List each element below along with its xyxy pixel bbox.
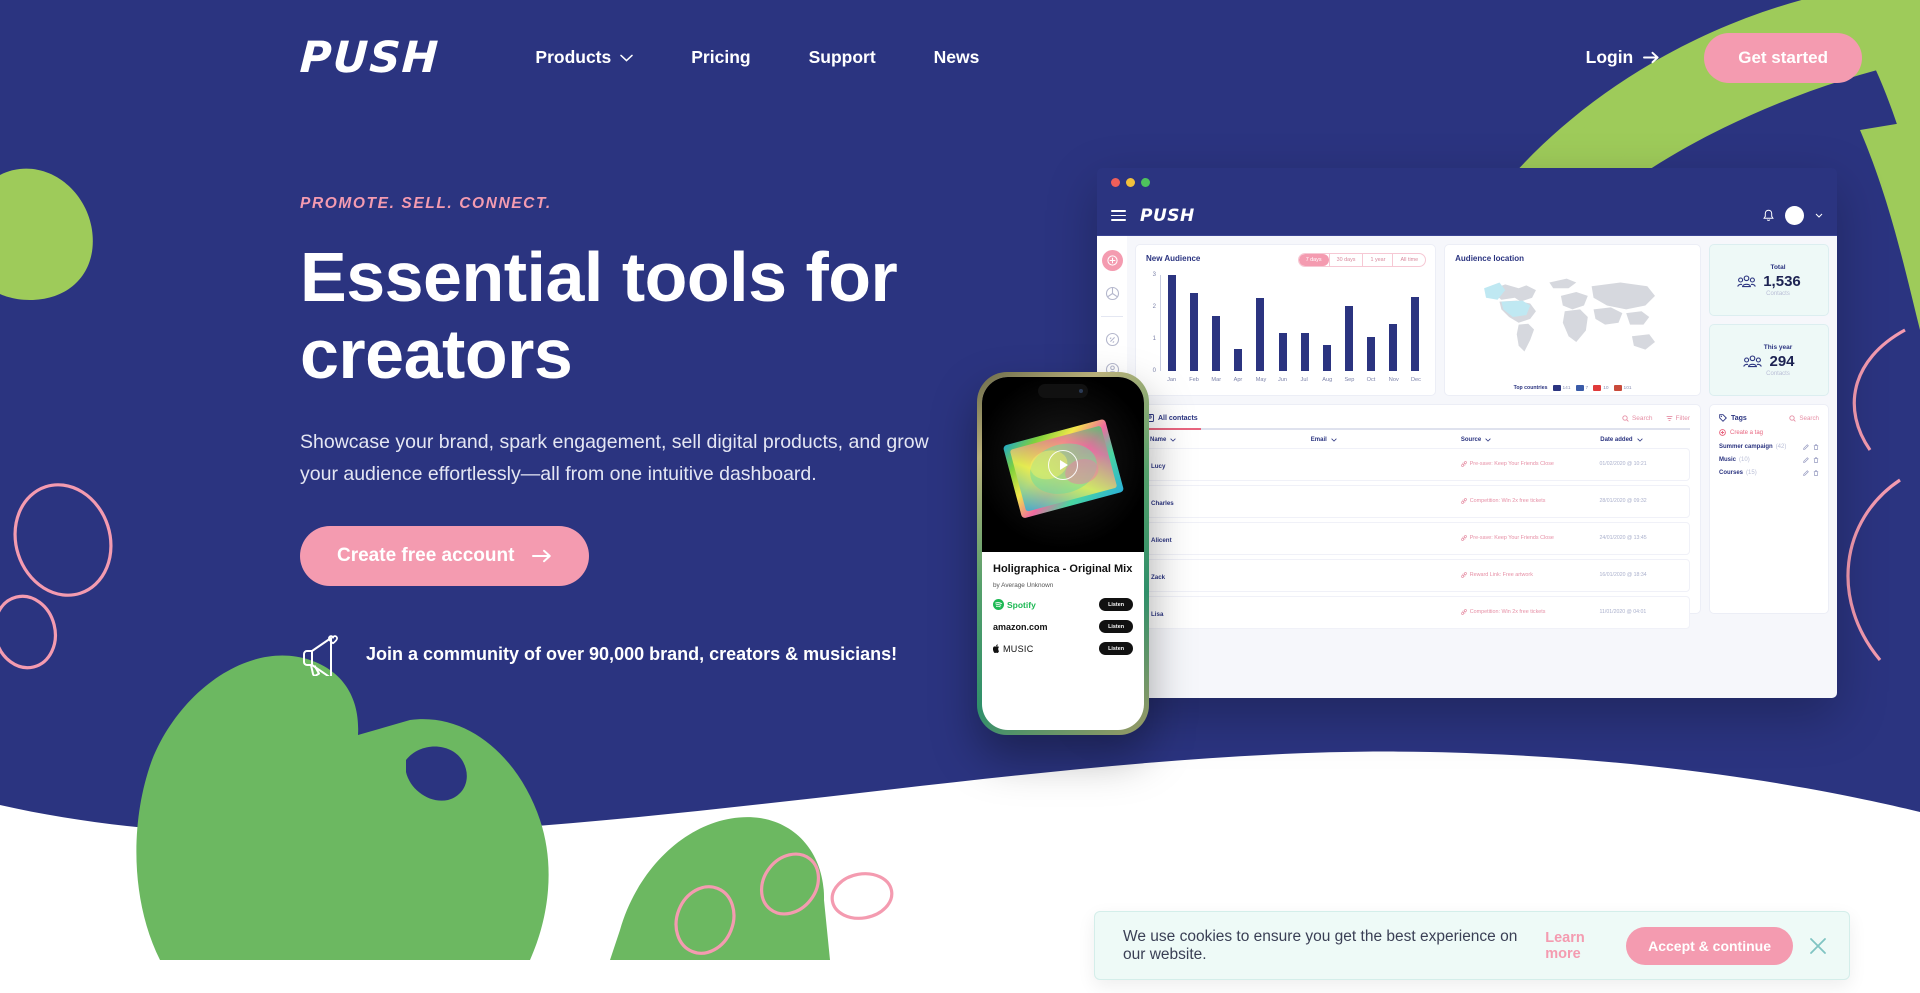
chevron-down-icon xyxy=(1331,438,1337,442)
nav-links: Products Pricing Support News xyxy=(535,37,979,78)
table-row[interactable]: LisaCompetition: Win 2x free tickets11/0… xyxy=(1146,596,1690,629)
flag-at-icon xyxy=(1593,385,1601,391)
hamburger-menu-icon[interactable] xyxy=(1111,210,1126,221)
app-logo: PUSH xyxy=(1140,206,1195,226)
chevron-down-icon[interactable] xyxy=(1815,213,1823,218)
chart-bar xyxy=(1168,275,1176,371)
tags-search-label: Search xyxy=(1799,415,1819,422)
sidebar-item-dashboard-icon[interactable] xyxy=(1105,286,1120,301)
world-map xyxy=(1453,269,1692,365)
new-audience-bar-chart: 0123 JanFebMarAprMayJunJulAugSepOctNovDe… xyxy=(1146,275,1426,387)
cell-date-added: 24/01/2020 @ 13:45 xyxy=(1600,535,1685,541)
cell-date-added: 11/01/2020 @ 04:01 xyxy=(1600,609,1685,615)
cell-name: Alicent xyxy=(1151,529,1311,547)
chart-x-tick: Oct xyxy=(1367,377,1375,383)
cell-source: Competition: Win 2x free tickets xyxy=(1461,609,1600,615)
cookie-banner: We use cookies to ensure you get the bes… xyxy=(1094,911,1850,980)
stat-label: This year xyxy=(1764,344,1793,351)
login-label: Login xyxy=(1586,47,1634,68)
sidebar-item-link-icon[interactable] xyxy=(1105,332,1120,347)
chart-y-tick: 3 xyxy=(1153,272,1156,278)
create-free-account-button[interactable]: Create free account xyxy=(300,526,589,586)
window-maximize-dot[interactable] xyxy=(1141,178,1150,187)
chart-bar xyxy=(1389,324,1397,371)
app-header: PUSH xyxy=(1097,196,1837,236)
chart-x-tick: Dec xyxy=(1411,377,1419,383)
flag-us-icon xyxy=(1576,385,1584,391)
spotify-icon xyxy=(993,599,1004,610)
login-link[interactable]: Login xyxy=(1586,47,1661,68)
table-row[interactable]: AlicentPre-save: Keep Your Friends Close… xyxy=(1146,522,1690,555)
cell-date-added: 01/02/2020 @ 10:21 xyxy=(1600,461,1685,467)
table-actions: Search Filter xyxy=(1622,415,1690,422)
search-icon xyxy=(1622,415,1629,422)
browser-window: PUSH xyxy=(1097,168,1837,698)
phone-notch xyxy=(1038,384,1088,398)
column-header-email[interactable]: Email xyxy=(1311,437,1461,443)
phone-screen: Holigraphica - Original Mix by Average U… xyxy=(982,377,1144,730)
top-navigation: PUSH Products Pricing Support News Login… xyxy=(0,0,1920,115)
tag-name: Summer campaign xyxy=(1719,444,1773,450)
table-tab-underline xyxy=(1146,428,1690,430)
window-close-dot[interactable] xyxy=(1111,178,1120,187)
table-filter-button[interactable]: Filter xyxy=(1666,415,1690,422)
service-row-amazon: amazon.com Listen xyxy=(993,620,1133,633)
legend-country-nl: 101 xyxy=(1614,385,1632,391)
table-row[interactable]: CharlesCompetition: Win 2x free tickets2… xyxy=(1146,485,1690,518)
chevron-down-icon xyxy=(1637,438,1643,442)
hero-subtext: Showcase your brand, spark engagement, s… xyxy=(300,427,940,490)
chart-y-tick: 1 xyxy=(1153,336,1156,342)
close-icon[interactable] xyxy=(1807,935,1829,957)
app-body: New Audience 7 days 30 days 1 year All t… xyxy=(1097,236,1837,698)
chart-x-tick: Sep xyxy=(1344,377,1352,383)
legend-country-value: 10 xyxy=(1603,386,1608,391)
link-icon xyxy=(1461,498,1467,504)
chart-y-tick: 2 xyxy=(1153,304,1156,310)
listen-button-amazon[interactable]: Listen xyxy=(1099,620,1133,633)
legend-country-value: 141 xyxy=(1563,386,1571,391)
nav-link-label: Products xyxy=(535,47,611,68)
table-search-button[interactable]: Search xyxy=(1622,415,1653,422)
chart-bar xyxy=(1345,306,1353,371)
brand-logo[interactable]: PUSH xyxy=(299,33,441,83)
tags-title: Tags xyxy=(1719,414,1747,422)
tag-icon xyxy=(1719,414,1727,422)
tag-list-item[interactable]: Summer campaign(42) xyxy=(1719,444,1819,450)
stat-value-row: 294 xyxy=(1743,353,1794,370)
cell-name: Lisa xyxy=(1151,603,1311,621)
nav-link-support[interactable]: Support xyxy=(809,37,876,78)
tags-search-button[interactable]: Search xyxy=(1789,415,1819,422)
link-icon xyxy=(1461,535,1467,541)
chart-bar xyxy=(1323,345,1331,371)
service-row-spotify: Spotify Listen xyxy=(993,598,1133,611)
column-label: Date added xyxy=(1600,437,1632,443)
cell-name: Zack xyxy=(1151,566,1311,584)
spotify-brand: Spotify xyxy=(993,599,1036,610)
create-tag-label: Create a tag xyxy=(1730,430,1763,436)
chart-y-tick: 0 xyxy=(1153,368,1156,374)
chart-x-tick: Apr xyxy=(1234,377,1242,383)
trash-icon[interactable] xyxy=(1813,457,1819,463)
product-mockup: PUSH xyxy=(1097,168,1837,698)
amazon-brand: amazon.com xyxy=(993,622,1048,632)
tags-panel: Tags Search xyxy=(1709,404,1829,614)
filter-pill-7-days[interactable]: 7 days xyxy=(1299,254,1329,266)
chart-bar xyxy=(1190,293,1198,371)
new-audience-card: New Audience 7 days 30 days 1 year All t… xyxy=(1135,244,1436,396)
community-text: Join a community of over 90,000 brand, c… xyxy=(366,644,897,665)
cta-label: Create free account xyxy=(337,545,514,567)
cell-source: Pre-save: Keep Your Friends Close xyxy=(1461,461,1600,467)
legend-country-value: 101 xyxy=(1624,386,1632,391)
hero-section: PROMOTE. SELL. CONNECT. Essential tools … xyxy=(300,195,1000,676)
listen-button-apple-music[interactable]: Listen xyxy=(1099,642,1133,655)
column-label: Email xyxy=(1311,437,1327,443)
nav-link-products[interactable]: Products xyxy=(535,37,633,78)
chevron-down-icon xyxy=(620,54,633,62)
chart-bar xyxy=(1301,333,1309,371)
legend-country-us: 7 xyxy=(1576,385,1589,391)
people-group-icon xyxy=(1743,355,1762,368)
table-row[interactable]: ZackReward Link: Free artwork16/01/2020 … xyxy=(1146,559,1690,592)
service-name: MUSIC xyxy=(1003,644,1034,654)
table-column-headers: Name Email Source xyxy=(1146,430,1690,448)
column-label: Source xyxy=(1461,437,1481,443)
plus-circle-icon xyxy=(1107,255,1118,266)
filter-pill-all-time[interactable]: All time xyxy=(1392,254,1425,266)
play-button-icon[interactable] xyxy=(1048,450,1078,480)
service-name: amazon.com xyxy=(993,622,1048,632)
chart-x-tick: Nov xyxy=(1389,377,1397,383)
table-header: All contacts Search xyxy=(1146,414,1690,422)
accept-continue-button[interactable]: Accept & continue xyxy=(1626,927,1793,965)
stat-cards: Total 1,536 xyxy=(1709,244,1829,396)
tag-count: (42) xyxy=(1776,444,1787,450)
chart-x-tick: Jun xyxy=(1278,377,1286,383)
create-tag-button[interactable]: Create a tag xyxy=(1719,429,1819,436)
filter-pill-1-year[interactable]: 1 year xyxy=(1362,254,1392,266)
tag-name: Courses xyxy=(1719,470,1743,476)
link-icon xyxy=(1461,461,1467,467)
cell-date-added: 28/01/2020 @ 09:32 xyxy=(1600,498,1685,504)
tags-title-label: Tags xyxy=(1731,415,1747,422)
dashboard-top-row: New Audience 7 days 30 days 1 year All t… xyxy=(1135,244,1829,396)
window-minimize-dot[interactable] xyxy=(1126,178,1135,187)
sidebar-item-plus-circle-icon[interactable] xyxy=(1102,250,1123,271)
nav-link-news[interactable]: News xyxy=(934,37,980,78)
album-artwork xyxy=(982,377,1144,552)
tag-count: (10) xyxy=(1739,457,1750,463)
chart-bar xyxy=(1256,298,1264,371)
learn-more-link[interactable]: Learn more xyxy=(1545,930,1612,962)
page-title: Essential tools for creators xyxy=(300,239,1000,393)
chart-bar xyxy=(1279,333,1287,371)
user-avatar-icon[interactable] xyxy=(1785,206,1804,225)
stat-sublabel: Contacts xyxy=(1766,371,1790,377)
nav-link-label: Support xyxy=(809,47,876,68)
cookie-message: We use cookies to ensure you get the bes… xyxy=(1123,928,1531,964)
column-header-name[interactable]: Name xyxy=(1150,437,1311,443)
stat-card-this-year: This year 294 xyxy=(1709,324,1829,396)
filter-pill-30-days[interactable]: 30 days xyxy=(1329,254,1363,266)
stat-value-row: 1,536 xyxy=(1737,273,1801,290)
phone-mockup: Holigraphica - Original Mix by Average U… xyxy=(977,372,1149,735)
audience-location-card: Audience location xyxy=(1444,244,1701,396)
tag-list-item[interactable]: Music(10) xyxy=(1719,457,1819,463)
listen-button-spotify[interactable]: Listen xyxy=(1099,598,1133,611)
tags-list: Summer campaign(42)Music(10)Courses(15) xyxy=(1719,444,1819,476)
trash-icon[interactable] xyxy=(1813,470,1819,476)
arrow-right-icon xyxy=(1643,51,1660,64)
column-header-source[interactable]: Source xyxy=(1461,437,1600,443)
chart-bar xyxy=(1212,316,1220,371)
phone-track-info: Holigraphica - Original Mix by Average U… xyxy=(982,552,1144,655)
get-started-button[interactable]: Get started xyxy=(1704,33,1862,83)
nav-link-label: News xyxy=(934,47,980,68)
chevron-down-icon xyxy=(1170,438,1176,442)
stat-value: 294 xyxy=(1769,353,1794,370)
stat-label: Total xyxy=(1770,264,1785,271)
service-name: Spotify xyxy=(1007,600,1036,610)
window-controls xyxy=(1097,168,1837,196)
nav-link-pricing[interactable]: Pricing xyxy=(691,37,750,78)
service-row-apple-music: MUSIC Listen xyxy=(993,642,1133,655)
filter-icon xyxy=(1666,415,1673,422)
megaphone-heart-icon xyxy=(300,632,348,676)
cell-source: Competition: Win 2x free tickets xyxy=(1461,498,1600,504)
card-title: Audience location xyxy=(1455,254,1690,263)
chart-x-tick: May xyxy=(1256,377,1264,383)
edit-icon[interactable] xyxy=(1803,444,1809,450)
legend-country-gb: 141 xyxy=(1553,385,1571,391)
stat-sublabel: Contacts xyxy=(1766,291,1790,297)
nav-link-label: Pricing xyxy=(691,47,750,68)
track-title: Holigraphica - Original Mix xyxy=(993,562,1133,577)
chart-bar xyxy=(1234,349,1242,371)
app-header-actions xyxy=(1763,206,1823,225)
chart-plot-area xyxy=(1160,275,1426,371)
cell-name: Lucy xyxy=(1151,455,1311,473)
stat-card-total: Total 1,536 xyxy=(1709,244,1829,316)
community-callout: Join a community of over 90,000 brand, c… xyxy=(300,632,1000,676)
flag-gb-icon xyxy=(1553,385,1561,391)
search-icon xyxy=(1789,415,1796,422)
chart-bar xyxy=(1411,297,1419,371)
apple-music-icon xyxy=(993,644,1000,653)
track-artist: by Average Unknown xyxy=(993,582,1133,589)
tag-count: (15) xyxy=(1746,470,1757,476)
link-icon xyxy=(1461,609,1467,615)
chart-x-tick: Feb xyxy=(1189,377,1197,383)
chart-y-axis: 0123 xyxy=(1146,275,1159,371)
link-icon xyxy=(1461,572,1467,578)
tab-all-contacts[interactable]: All contacts xyxy=(1146,414,1198,422)
cell-name: Charles xyxy=(1151,492,1311,510)
cell-source: Reward Link: Free artwork xyxy=(1461,572,1600,578)
trash-icon[interactable] xyxy=(1813,444,1819,450)
chart-bar xyxy=(1367,337,1375,371)
chart-x-tick: Jul xyxy=(1300,377,1308,383)
chart-x-tick: Jan xyxy=(1167,377,1175,383)
column-header-date-added[interactable]: Date added xyxy=(1600,437,1686,443)
plus-circle-icon xyxy=(1719,429,1726,436)
apple-music-brand: MUSIC xyxy=(993,644,1034,654)
search-label: Search xyxy=(1632,415,1653,422)
people-group-icon xyxy=(1737,275,1756,288)
tab-label: All contacts xyxy=(1158,415,1198,422)
sidebar-divider xyxy=(1101,316,1123,317)
stat-value: 1,536 xyxy=(1763,273,1801,290)
tag-name: Music xyxy=(1719,457,1736,463)
edit-icon[interactable] xyxy=(1803,470,1809,476)
nav-right-actions: Login Get started xyxy=(1586,33,1862,83)
arrow-right-icon xyxy=(532,549,552,563)
flag-nl-icon xyxy=(1614,385,1622,391)
hero-eyebrow: PROMOTE. SELL. CONNECT. xyxy=(300,195,1000,213)
table-row[interactable]: LucyPre-save: Keep Your Friends Close01/… xyxy=(1146,448,1690,481)
chart-x-axis: JanFebMarAprMayJunJulAugSepOctNovDec xyxy=(1160,373,1426,387)
legend-country-at: 10 xyxy=(1593,385,1608,391)
tags-header: Tags Search xyxy=(1719,414,1819,422)
chart-x-tick: Aug xyxy=(1322,377,1330,383)
app-content: New Audience 7 days 30 days 1 year All t… xyxy=(1127,236,1837,698)
chevron-down-icon xyxy=(1485,438,1491,442)
contacts-table-card: All contacts Search xyxy=(1135,404,1701,614)
column-label: Name xyxy=(1150,437,1166,443)
legend-country-value: 7 xyxy=(1586,386,1589,391)
cell-date-added: 16/01/2020 @ 18:34 xyxy=(1600,572,1685,578)
time-range-filters: 7 days 30 days 1 year All time xyxy=(1298,253,1426,267)
chart-x-tick: Mar xyxy=(1211,377,1219,383)
edit-icon[interactable] xyxy=(1803,457,1809,463)
dashboard-bottom-row: All contacts Search xyxy=(1135,404,1829,614)
tag-list-item[interactable]: Courses(15) xyxy=(1719,470,1819,476)
bell-icon[interactable] xyxy=(1763,209,1774,222)
cell-source: Pre-save: Keep Your Friends Close xyxy=(1461,535,1600,541)
filter-label: Filter xyxy=(1676,415,1690,422)
table-body: LucyPre-save: Keep Your Friends Close01/… xyxy=(1146,448,1690,629)
legend-label: Top countries xyxy=(1514,385,1548,391)
map-legend: Top countries 141 7 10 xyxy=(1445,385,1700,391)
